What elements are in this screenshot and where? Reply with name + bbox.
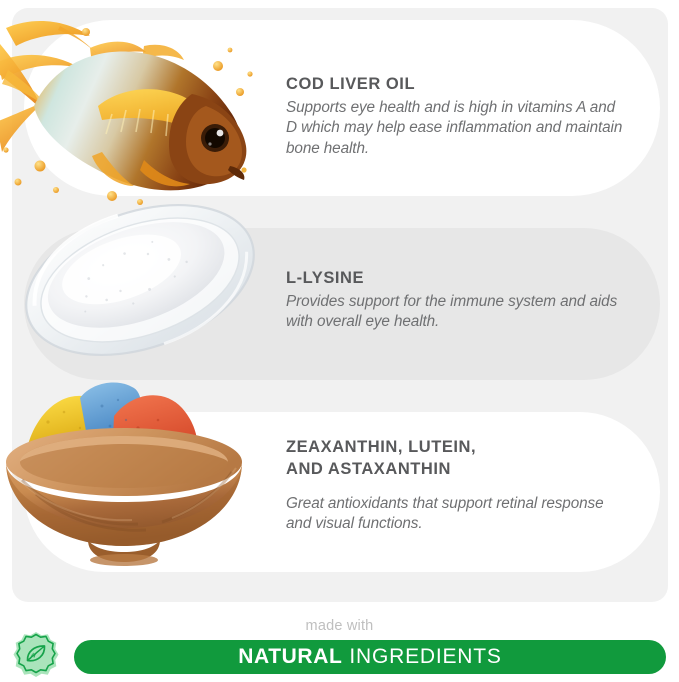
ingredient-text-l-lysine: L-LYSINE Provides support for the immune… bbox=[286, 268, 626, 333]
ingredient-title: L-LYSINE bbox=[286, 268, 626, 290]
banner-strong-text: NATURAL bbox=[238, 645, 342, 669]
ingredient-description: Provides support for the immune system a… bbox=[286, 292, 626, 333]
leaf-badge-icon bbox=[10, 629, 62, 681]
ingredient-description: Great antioxidants that support retinal … bbox=[286, 494, 626, 535]
ingredient-text-zeaxanthin: ZEAXANTHIN, LUTEIN, AND ASTAXANTHIN Grea… bbox=[286, 437, 626, 535]
ingredient-description: Supports eye health and is high in vitam… bbox=[286, 98, 626, 159]
ingredient-title: ZEAXANTHIN, LUTEIN, AND ASTAXANTHIN bbox=[286, 437, 626, 481]
infographic-root: COD LIVER OIL Supports eye health and is… bbox=[0, 0, 679, 682]
banner-light-text: INGREDIENTS bbox=[349, 645, 501, 669]
ingredient-title: COD LIVER OIL bbox=[286, 74, 626, 96]
made-with-label: made with bbox=[0, 618, 679, 634]
ingredient-text-cod-liver-oil: COD LIVER OIL Supports eye health and is… bbox=[286, 74, 626, 159]
natural-ingredients-banner: NATURAL INGREDIENTS bbox=[74, 640, 666, 674]
